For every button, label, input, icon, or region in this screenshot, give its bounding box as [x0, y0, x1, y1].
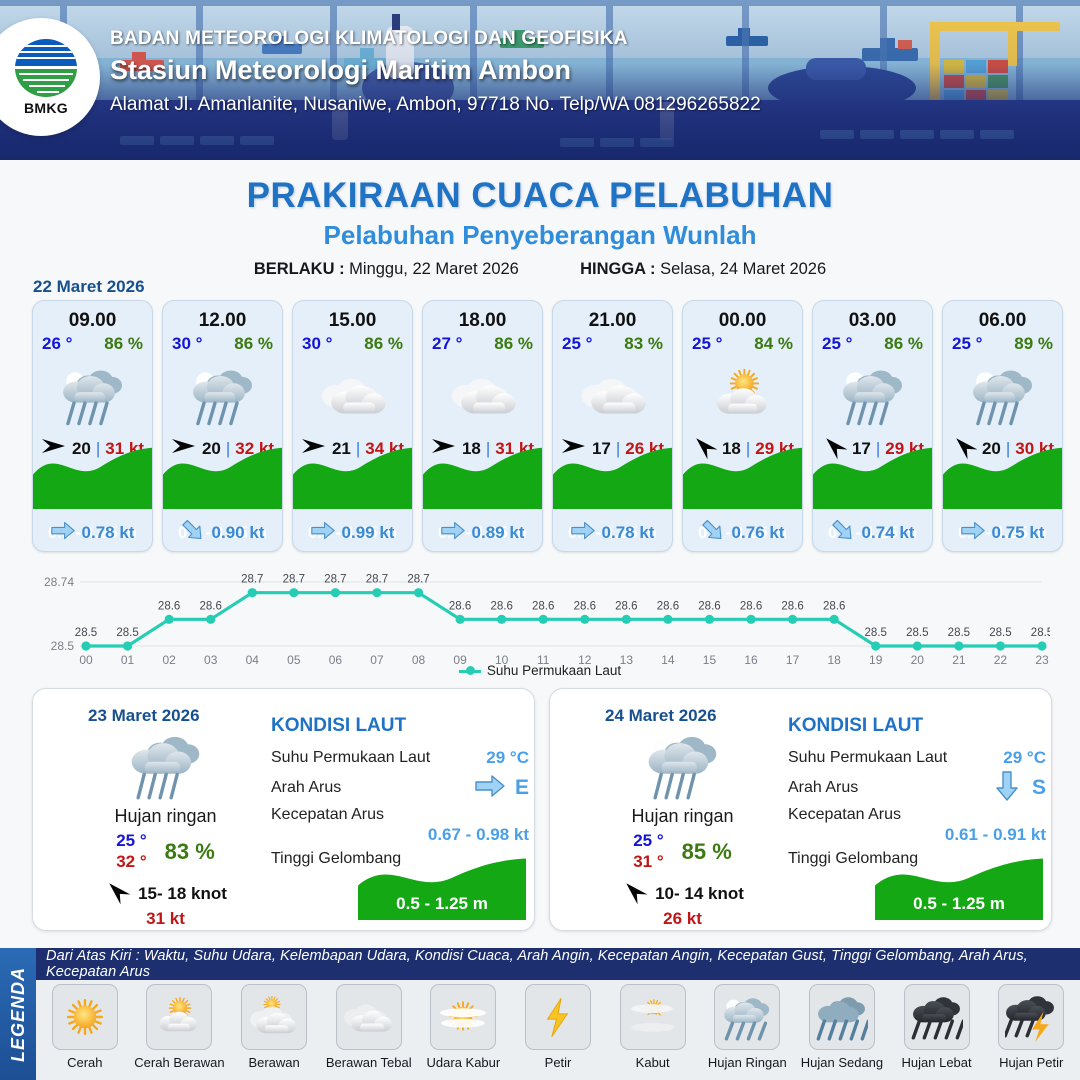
weather-icon-light-rain [714, 984, 780, 1050]
hourly-card: 06.00 25 ° 89 % [942, 300, 1063, 552]
card-temperature: 30 ° [302, 334, 332, 354]
bmkg-logo-text: BMKG [24, 100, 68, 116]
legend-item-label: Hujan Sedang [795, 1055, 889, 1070]
hourly-card: 12.00 30 ° 86 % [162, 300, 283, 552]
card-humidity: 86 % [104, 334, 143, 354]
legend-side-title: LEGENDA [0, 948, 36, 1080]
hourly-card: 03.00 25 ° 86 % [812, 300, 933, 552]
card-temperature: 25 ° [562, 334, 592, 354]
daily-forecast-panel: 23 Maret 2026 Hu [32, 688, 535, 931]
card-temperature: 25 ° [822, 334, 852, 354]
legend-item: Cerah [38, 984, 132, 1070]
weather-icon-cloudy [423, 356, 542, 434]
svg-text:28.5: 28.5 [906, 627, 928, 639]
valid-from-value: Minggu, 22 Maret 2026 [349, 260, 519, 278]
card-current: 0.76 kt [683, 521, 802, 545]
legend-item: Hujan Sedang [795, 984, 889, 1070]
chart-legend: Suhu Permukaan Laut [0, 663, 1080, 678]
wave-graphic [683, 445, 802, 509]
panel-temp-max: 31 ° [633, 852, 663, 872]
chart-legend-marker [459, 670, 481, 673]
svg-text:28.7: 28.7 [407, 574, 429, 586]
wave-graphic [293, 445, 412, 509]
card-temperature: 30 ° [172, 334, 202, 354]
panel-temp-max: 32 ° [116, 852, 146, 872]
current-speed-label: Kecepatan Arus [788, 806, 901, 824]
current-direction-value: S [1032, 776, 1046, 800]
panel-date: 23 Maret 2026 [88, 706, 200, 726]
card-temperature: 26 ° [42, 334, 72, 354]
weather-icon-heavy-rain [904, 984, 970, 1050]
panel-humidity: 83 % [165, 839, 215, 865]
current-direction-arrow-icon [992, 774, 1022, 803]
weather-icon-cloudy [553, 356, 672, 434]
current-direction-arrow-icon [51, 521, 75, 545]
svg-text:28.5: 28.5 [1031, 627, 1050, 639]
current-direction-arrow-icon [961, 521, 985, 545]
page-title: PRAKIRAAN CUACA PELABUHAN [0, 176, 1080, 216]
bmkg-logo-icon [15, 39, 77, 97]
weather-icon-partly-sunny [683, 356, 802, 434]
current-direction-arrow-icon [701, 521, 725, 545]
current-direction-arrow-icon [831, 521, 855, 545]
svg-text:28.7: 28.7 [324, 574, 346, 586]
legend-item-label: Hujan Ringan [700, 1055, 794, 1070]
wave-graphic [943, 445, 1062, 509]
card-temperature: 25 ° [952, 334, 982, 354]
weather-icon-fog [620, 984, 686, 1050]
panel-wind: 10- 14 knot [580, 881, 785, 906]
weather-icon-moderate-rain [809, 984, 875, 1050]
card-current: 0.74 kt [813, 521, 932, 545]
card-time: 00.00 [683, 310, 802, 332]
svg-text:28.7: 28.7 [241, 574, 263, 586]
card-current: 0.99 kt [293, 521, 412, 545]
validity-row: BERLAKU : Minggu, 22 Maret 2026 HINGGA :… [0, 260, 1080, 279]
card-humidity: 89 % [1014, 334, 1053, 354]
card-current: 0.78 kt [553, 521, 672, 545]
legend-items: Cerah Cerah Berawan [36, 984, 1080, 1070]
card-time: 21.00 [553, 310, 672, 332]
weather-icon-light-rain [580, 729, 785, 801]
weather-icon-cloudy [293, 356, 412, 434]
legend-item-label: Berawan Tebal [322, 1055, 416, 1070]
current-speed: 0.99 kt [342, 523, 395, 543]
svg-text:28.5: 28.5 [75, 627, 97, 639]
legend-item-label: Cerah [38, 1055, 132, 1070]
panel-wave-value: 0.5 - 1.25 m [875, 894, 1043, 914]
hourly-card: 18.00 27 ° 86 % 18 | [422, 300, 543, 552]
panel-wave-value: 0.5 - 1.25 m [358, 894, 526, 914]
wave-graphic [33, 445, 152, 509]
card-current: 0.89 kt [423, 521, 542, 545]
weather-icon-overcast [336, 984, 402, 1050]
current-direction-arrow-icon [181, 521, 205, 545]
legend-item-label: Berawan [227, 1055, 321, 1070]
card-humidity: 86 % [364, 334, 403, 354]
card-time: 09.00 [33, 310, 152, 332]
svg-text:28.6: 28.6 [200, 600, 222, 612]
card-time: 12.00 [163, 310, 282, 332]
current-speed: 0.90 kt [212, 523, 265, 543]
legend-note: Dari Atas Kiri : Waktu, Suhu Udara, Kele… [36, 948, 1080, 980]
daily-forecast-row: 23 Maret 2026 Hu [32, 688, 1052, 931]
legend-side-title-text: LEGENDA [8, 966, 29, 1061]
weather-icon-light-rain [63, 729, 268, 801]
wave-graphic [553, 445, 672, 509]
svg-text:28.6: 28.6 [158, 600, 180, 612]
card-current: 0.90 kt [163, 521, 282, 545]
legend-item-label: Hujan Lebat [890, 1055, 984, 1070]
panel-date: 24 Maret 2026 [605, 706, 717, 726]
current-direction-value: E [515, 776, 529, 800]
sst-value: 29 °C [1003, 748, 1046, 768]
card-humidity: 84 % [754, 334, 793, 354]
card-current: 0.75 kt [943, 521, 1062, 545]
sst-label: Suhu Permukaan Laut [271, 749, 430, 767]
svg-text:28.6: 28.6 [657, 600, 679, 612]
weather-icon-light-rain [163, 356, 282, 434]
sea-conditions-title: KONDISI LAUT [271, 715, 529, 737]
panel-condition: Hujan ringan [580, 806, 785, 827]
current-direction-arrow-icon [475, 774, 505, 803]
sst-chart: 28.7428.528.50028.50128.60228.60328.7042… [30, 560, 1050, 680]
valid-from-label: BERLAKU : [254, 260, 345, 278]
hourly-card: 21.00 25 ° 83 % 17 | [552, 300, 673, 552]
legend-item-label: Petir [511, 1055, 605, 1070]
card-humidity: 86 % [234, 334, 273, 354]
card-temperature: 25 ° [692, 334, 722, 354]
wave-graphic [163, 445, 282, 509]
card-humidity: 86 % [494, 334, 533, 354]
panel-humidity: 85 % [682, 839, 732, 865]
panel-condition: Hujan ringan [63, 806, 268, 827]
legend-item: Hujan Ringan [700, 984, 794, 1070]
card-temperature: 27 ° [432, 334, 462, 354]
panel-temp-min: 25 ° [633, 831, 663, 851]
sst-label: Suhu Permukaan Laut [788, 749, 947, 767]
panel-wave-graphic: 0.5 - 1.25 m [358, 856, 526, 920]
svg-text:28.74: 28.74 [44, 575, 74, 589]
legend-item-label: Hujan Petir [984, 1055, 1078, 1070]
wave-graphic [423, 445, 542, 509]
svg-text:28.6: 28.6 [490, 600, 512, 612]
agency-name: BADAN METEOROLOGI KLIMATOLOGI DAN GEOFIS… [110, 28, 761, 50]
legend-item-label: Udara Kabur [417, 1055, 511, 1070]
station-address: Alamat Jl. Amanlanite, Nusaniwe, Ambon, … [110, 94, 761, 116]
panel-wind-range: 10- 14 knot [655, 884, 744, 904]
weather-icon-partly-sunny [146, 984, 212, 1050]
svg-text:28.5: 28.5 [989, 627, 1011, 639]
panel-gust: 26 kt [580, 909, 785, 929]
current-speed: 0.78 kt [602, 523, 655, 543]
station-name: Stasiun Meteorologi Maritim Ambon [110, 55, 761, 86]
weather-icon-mostly-cloudy [241, 984, 307, 1050]
hourly-date-label: 22 Maret 2026 [33, 277, 145, 297]
daily-forecast-panel: 24 Maret 2026 Hu [549, 688, 1052, 931]
hourly-forecast-strip: 09.00 26 ° 86 % [32, 300, 1063, 552]
weather-icon-light-rain [33, 356, 152, 434]
card-time: 18.00 [423, 310, 542, 332]
svg-text:28.6: 28.6 [781, 600, 803, 612]
current-speed: 0.89 kt [472, 523, 525, 543]
page-subtitle: Pelabuhan Penyeberangan Wunlah [0, 220, 1080, 251]
legend-item: Hujan Petir [984, 984, 1078, 1070]
card-time: 03.00 [813, 310, 932, 332]
hourly-card: 15.00 30 ° 86 % 21 | [292, 300, 413, 552]
svg-text:28.7: 28.7 [283, 574, 305, 586]
card-time: 06.00 [943, 310, 1062, 332]
svg-text:28.5: 28.5 [51, 639, 75, 653]
legend-item: Berawan Tebal [322, 984, 416, 1070]
chart-legend-label: Suhu Permukaan Laut [487, 663, 621, 678]
legend-section: LEGENDA Dari Atas Kiri : Waktu, Suhu Uda… [0, 948, 1080, 1080]
svg-text:28.5: 28.5 [865, 627, 887, 639]
legend-item: Kabut [606, 984, 700, 1070]
svg-text:28.6: 28.6 [698, 600, 720, 612]
weather-icon-sunny [52, 984, 118, 1050]
card-time: 15.00 [293, 310, 412, 332]
wind-direction-arrow-icon [621, 881, 647, 906]
weather-icon-lightning [525, 984, 591, 1050]
card-humidity: 83 % [624, 334, 663, 354]
sea-conditions-title: KONDISI LAUT [788, 715, 1046, 737]
svg-text:28.6: 28.6 [740, 600, 762, 612]
current-direction-arrow-icon [311, 521, 335, 545]
legend-item: Petir [511, 984, 605, 1070]
title-block: PRAKIRAAN CUACA PELABUHAN Pelabuhan Peny… [0, 176, 1080, 279]
panel-gust: 31 kt [63, 909, 268, 929]
card-current: 0.78 kt [33, 521, 152, 545]
current-direction-arrow-icon [441, 521, 465, 545]
page-header: BMKG BADAN METEOROLOGI KLIMATOLOGI DAN G… [0, 0, 1080, 160]
legend-item: Cerah Berawan [133, 984, 227, 1070]
panel-wind: 15- 18 knot [63, 881, 268, 906]
legend-item-label: Cerah Berawan [133, 1055, 227, 1070]
svg-text:28.6: 28.6 [532, 600, 554, 612]
svg-text:28.5: 28.5 [948, 627, 970, 639]
valid-until-value: Selasa, 24 Maret 2026 [660, 260, 826, 278]
current-speed: 0.75 kt [992, 523, 1045, 543]
svg-text:28.6: 28.6 [823, 600, 845, 612]
svg-text:28.6: 28.6 [615, 600, 637, 612]
card-humidity: 86 % [884, 334, 923, 354]
current-direction-label: Arah Arus [271, 779, 341, 797]
current-speed-value: 0.67 - 0.98 kt [271, 825, 529, 845]
legend-item: Udara Kabur [417, 984, 511, 1070]
legend-item: Berawan [227, 984, 321, 1070]
current-speed-value: 0.61 - 0.91 kt [788, 825, 1046, 845]
wave-graphic [813, 445, 932, 509]
legend-item: Hujan Lebat [890, 984, 984, 1070]
weather-icon-light-rain [943, 356, 1062, 434]
current-speed: 0.76 kt [732, 523, 785, 543]
weather-icon-haze [430, 984, 496, 1050]
weather-icon-light-rain [813, 356, 932, 434]
svg-text:28.6: 28.6 [574, 600, 596, 612]
current-speed: 0.74 kt [862, 523, 915, 543]
hourly-card: 09.00 26 ° 86 % [32, 300, 153, 552]
svg-text:28.5: 28.5 [116, 627, 138, 639]
panel-wave-graphic: 0.5 - 1.25 m [875, 856, 1043, 920]
current-speed-label: Kecepatan Arus [271, 806, 384, 824]
current-speed: 0.78 kt [82, 523, 135, 543]
panel-temp-min: 25 ° [116, 831, 146, 851]
current-direction-label: Arah Arus [788, 779, 858, 797]
wind-direction-arrow-icon [104, 881, 130, 906]
weather-icon-thunderstorm [998, 984, 1064, 1050]
svg-text:28.7: 28.7 [366, 574, 388, 586]
legend-item-label: Kabut [606, 1055, 700, 1070]
panel-wind-range: 15- 18 knot [138, 884, 227, 904]
hourly-card: 00.00 25 ° 84 % 18 | 29 [682, 300, 803, 552]
sst-value: 29 °C [486, 748, 529, 768]
current-direction-arrow-icon [571, 521, 595, 545]
valid-until-label: HINGGA : [580, 260, 655, 278]
svg-text:28.6: 28.6 [449, 600, 471, 612]
